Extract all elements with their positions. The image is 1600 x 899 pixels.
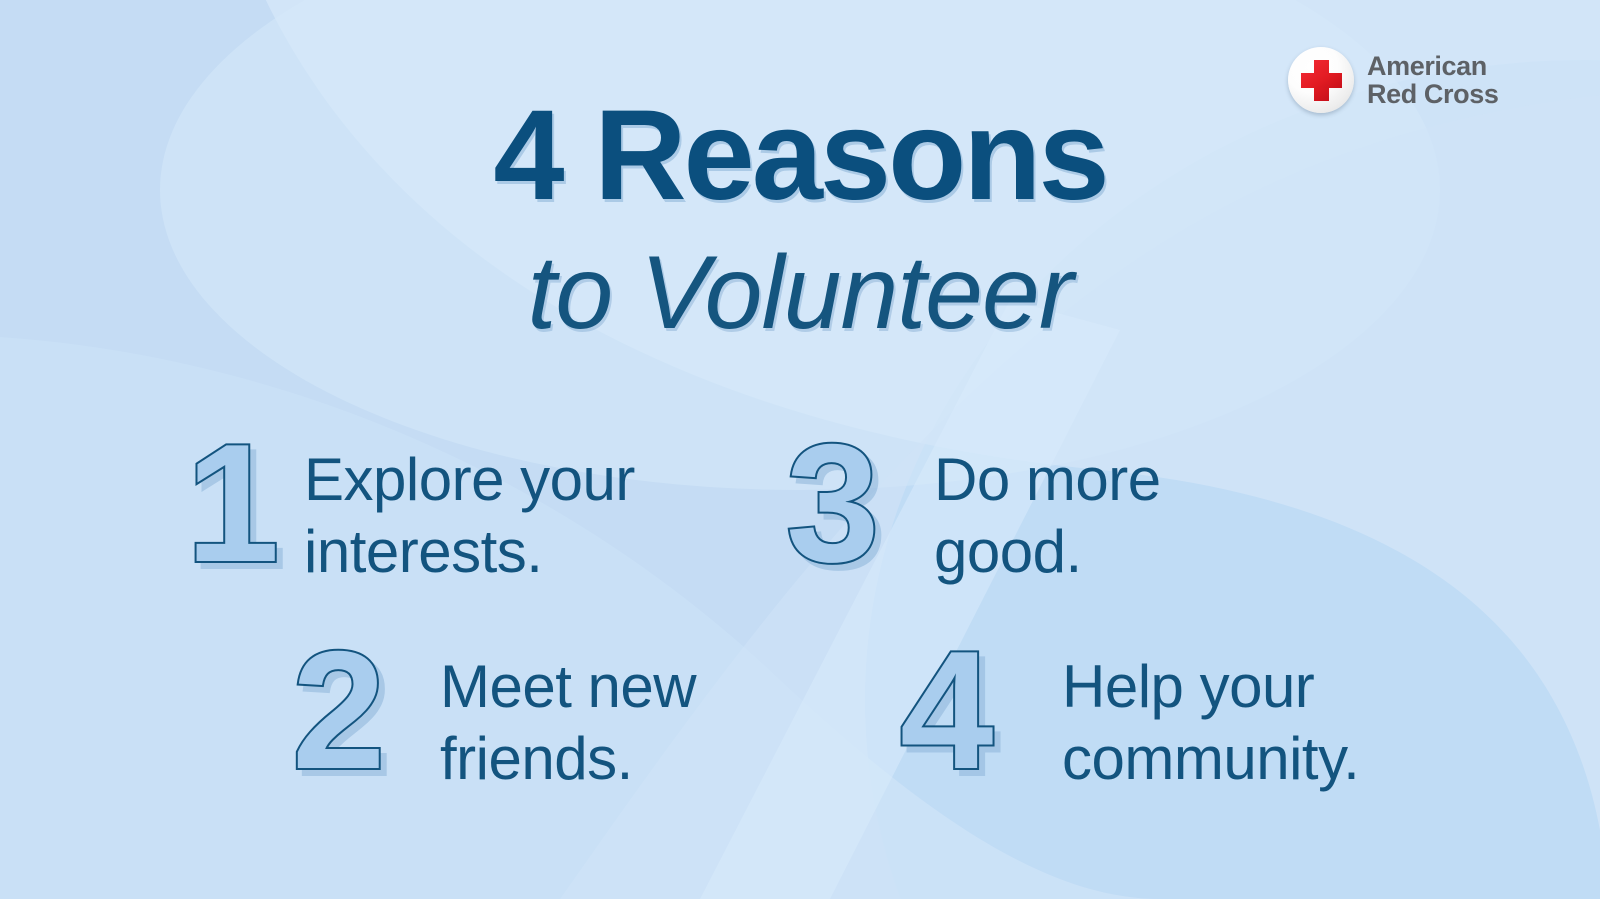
- cross-horizontal-bar: [1301, 73, 1342, 88]
- reason-label-3: Do more good.: [934, 444, 1161, 588]
- headline-block: 4 Reasons to Volunteer: [0, 92, 1600, 348]
- reason-item-3: 3 Do more good.: [786, 428, 1161, 588]
- poster-canvas: American Red Cross 4 Reasons to Voluntee…: [0, 0, 1600, 899]
- page-subtitle: to Volunteer: [0, 238, 1600, 348]
- reason-number-3: 3: [786, 428, 918, 578]
- reason-item-2: 2 Meet new friends.: [292, 635, 696, 795]
- reason-label-2: Meet new friends.: [440, 651, 696, 795]
- reason-number-4: 4: [900, 635, 1038, 785]
- page-title: 4 Reasons: [0, 92, 1600, 220]
- brand-wordmark-line1: American: [1367, 52, 1498, 80]
- reason-number-2: 2: [292, 635, 424, 785]
- reason-item-4: 4 Help your community.: [900, 635, 1359, 795]
- reason-number-1: 1: [186, 428, 304, 578]
- reason-item-1: 1 Explore your interests.: [186, 428, 635, 588]
- reason-label-1: Explore your interests.: [304, 444, 635, 588]
- reasons-grid: 1 Explore your interests. 2 Meet new fri…: [0, 420, 1600, 840]
- reason-label-4: Help your community.: [1062, 651, 1359, 795]
